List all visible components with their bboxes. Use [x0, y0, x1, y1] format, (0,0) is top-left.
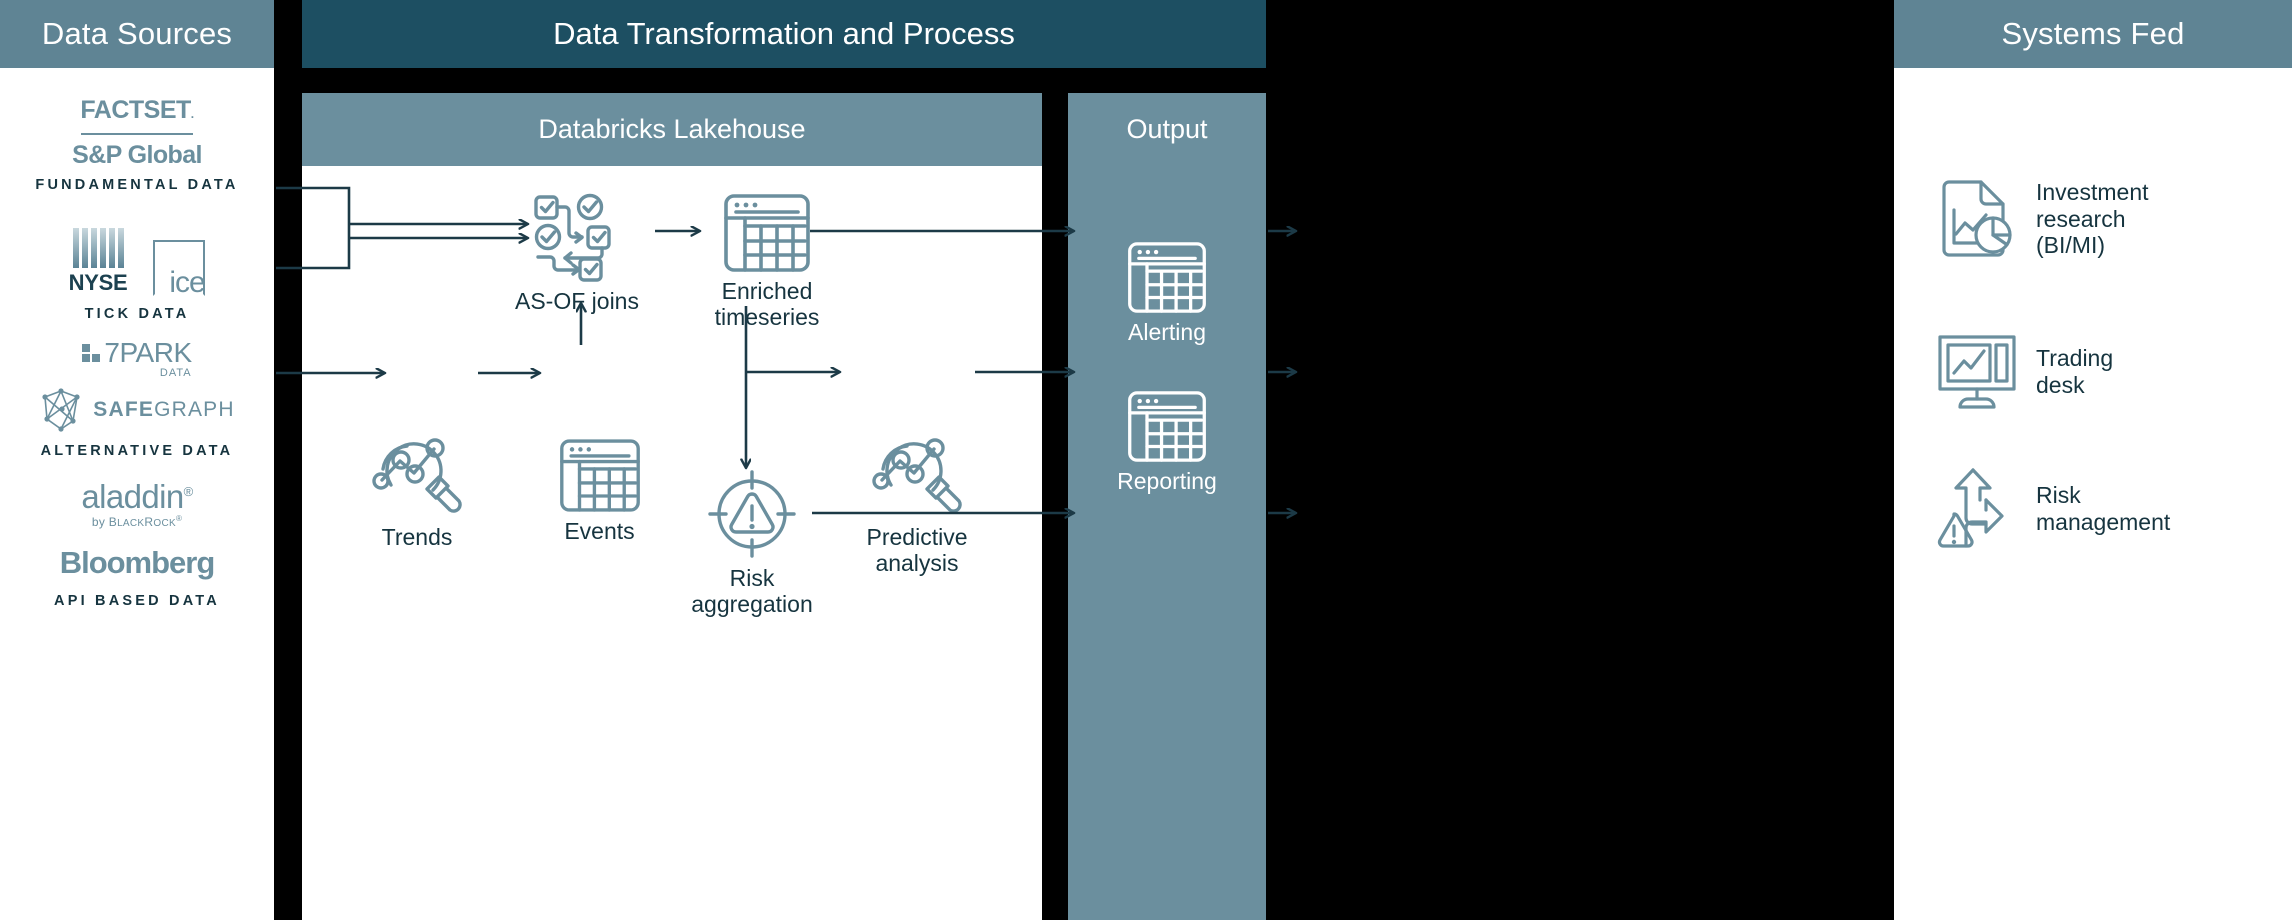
lakehouse-title: Databricks Lakehouse	[538, 114, 805, 145]
nyse-logo: NYSE	[69, 228, 128, 296]
systems-fed-header: Systems Fed	[1894, 0, 2292, 68]
table-window-icon	[1127, 390, 1207, 463]
data-sources-column: Data Sources FACTSET. S&P Global FUNDAME…	[0, 0, 274, 920]
safegraph-mark-icon	[39, 387, 83, 433]
nyse-bars-icon	[73, 228, 124, 268]
monitor-chart-icon	[1936, 333, 2018, 411]
checklist-flow-icon	[532, 193, 622, 283]
diagram-root: Data Sources FACTSET. S&P Global FUNDAME…	[0, 0, 2292, 920]
node-label-reporting: Reporting	[1068, 469, 1266, 495]
node-label-risk-aggregation: Risk aggregation	[652, 566, 852, 618]
system-investment-research[interactable]: Investment research (BI/MI)	[1936, 178, 2149, 260]
table-window-icon	[1127, 241, 1207, 314]
logo-divider	[81, 133, 193, 135]
systems-fed-title: Systems Fed	[2001, 16, 2184, 52]
source-group-api: aladdin® by BLACKROCK® Bloomberg API BAS…	[0, 478, 274, 609]
system-risk-management[interactable]: Risk management	[1936, 468, 2170, 550]
node-enriched-timeseries[interactable]: Enriched timeseries	[672, 193, 862, 331]
table-window-icon	[723, 193, 811, 273]
ice-logo: ice	[153, 240, 205, 296]
transformation-title: Data Transformation and Process	[553, 16, 1015, 52]
output-header: Output	[1068, 93, 1266, 166]
output-panel: Output Alerting	[1068, 93, 1266, 920]
systems-fed-column: Systems Fed Investment research (BI/MI)	[1894, 0, 2292, 920]
sp-global-logo: S&P Global	[72, 141, 202, 170]
output-title: Output	[1126, 114, 1207, 145]
source-group-tick: NYSE ice TICK DATA	[0, 228, 274, 322]
source-caption-fundamental: FUNDAMENTAL DATA	[0, 177, 274, 193]
node-label-enriched-timeseries: Enriched timeseries	[672, 279, 862, 331]
source-caption-tick: TICK DATA	[0, 306, 274, 322]
source-group-fundamental: FACTSET. S&P Global FUNDAMENTAL DATA	[0, 96, 274, 193]
node-label-as-of-joins: AS-OF joins	[482, 289, 672, 315]
sevenpark-squares-icon	[82, 344, 100, 362]
aladdin-logo: aladdin® by BLACKROCK®	[81, 478, 192, 529]
source-caption-alternative: ALTERNATIVE DATA	[0, 443, 274, 459]
node-trends[interactable]: Trends	[322, 433, 512, 551]
document-chart-icon	[1936, 178, 2018, 260]
sevenpark-logo: 7PARK DATA	[82, 340, 191, 379]
system-trading-desk[interactable]: Trading desk	[1936, 333, 2113, 411]
node-alerting[interactable]: Alerting	[1068, 241, 1266, 346]
lakehouse-panel: Databricks Lakehouse	[302, 93, 1042, 920]
node-label-alerting: Alerting	[1068, 320, 1266, 346]
magnifier-trend-icon	[371, 433, 463, 519]
data-sources-title: Data Sources	[42, 16, 232, 52]
factset-logo: FACTSET.	[80, 96, 193, 125]
node-risk-aggregation[interactable]: Risk aggregation	[652, 468, 852, 618]
lakehouse-header: Databricks Lakehouse	[302, 93, 1042, 166]
system-label-investment-research: Investment research (BI/MI)	[2036, 179, 2149, 260]
system-label-risk-management: Risk management	[2036, 482, 2170, 536]
target-warning-icon	[706, 468, 798, 560]
node-reporting[interactable]: Reporting	[1068, 390, 1266, 495]
bloomberg-logo: Bloomberg	[60, 545, 215, 581]
source-group-alternative: 7PARK DATA	[0, 340, 274, 459]
transformation-header: Data Transformation and Process	[302, 0, 1266, 68]
magnifier-trend-icon	[871, 433, 963, 519]
data-sources-header: Data Sources	[0, 0, 274, 68]
node-as-of-joins[interactable]: AS-OF joins	[482, 193, 672, 315]
system-label-trading-desk: Trading desk	[2036, 345, 2113, 399]
node-label-trends: Trends	[322, 525, 512, 551]
safegraph-logo: SAFEGRAPH	[39, 387, 235, 433]
warning-arrows-icon	[1936, 468, 2018, 550]
source-caption-api: API BASED DATA	[0, 593, 274, 609]
table-window-icon	[559, 438, 641, 513]
